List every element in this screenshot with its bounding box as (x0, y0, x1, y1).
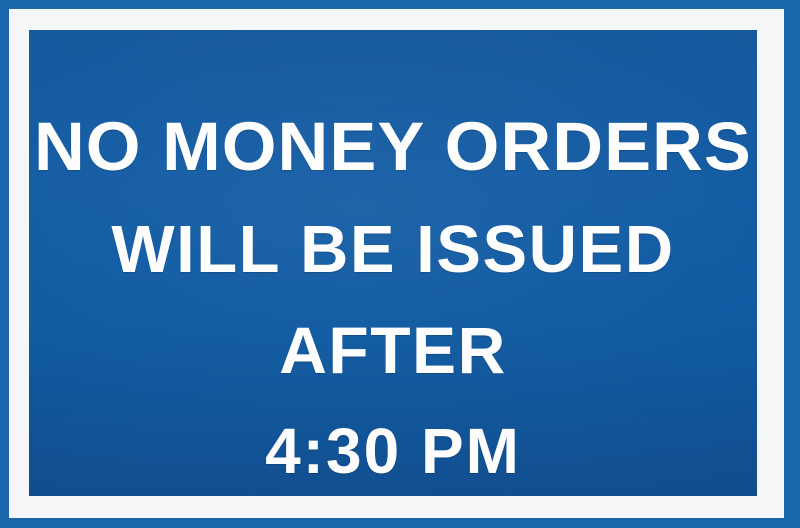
sign-white-border: NO MONEY ORDERS WILL BE ISSUED AFTER 4:3… (9, 9, 784, 518)
sign-legend: NO MONEY ORDERS WILL BE ISSUED AFTER 4:3… (29, 30, 757, 496)
sign-blue-field: NO MONEY ORDERS WILL BE ISSUED AFTER 4:3… (29, 30, 757, 496)
legend-line-3: AFTER (279, 317, 506, 383)
legend-line-2: WILL BE ISSUED (111, 216, 674, 283)
sign-image: NO MONEY ORDERS WILL BE ISSUED AFTER 4:3… (0, 0, 800, 528)
legend-line-4-time: 4:30 PM (265, 419, 521, 483)
legend-line-1: NO MONEY ORDERS (34, 112, 752, 181)
